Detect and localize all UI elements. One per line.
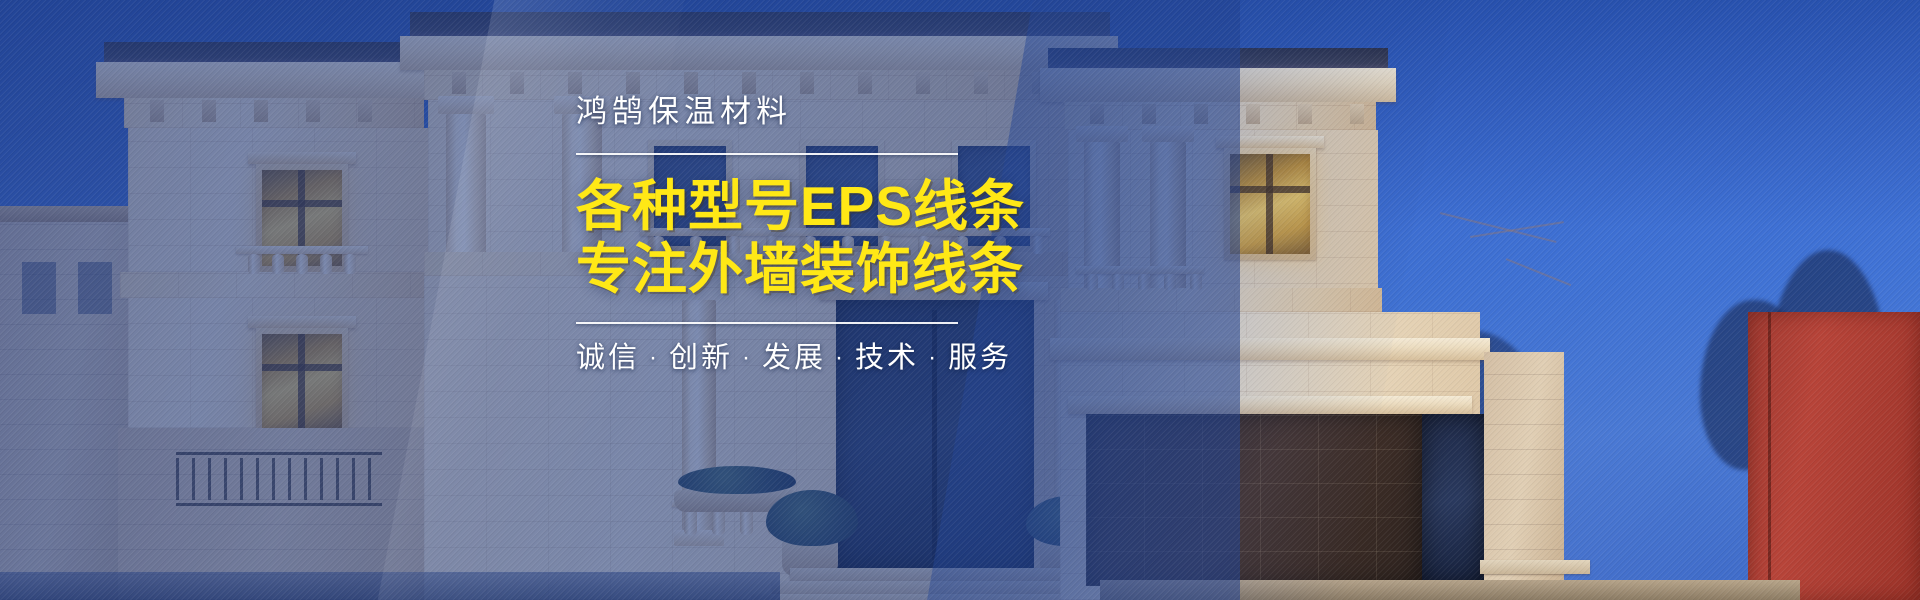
headline-line-1: 各种型号EPS线条	[576, 175, 1336, 238]
headline-line-2: 专注外墙装饰线条	[576, 238, 1336, 301]
tagline-item-5: 服务	[948, 342, 1012, 374]
tagline-item-2: 创新	[669, 342, 733, 374]
red-panel	[1748, 312, 1920, 600]
brand-name: 鸿鹄保温材料	[576, 96, 1336, 127]
side-steps	[1480, 560, 1590, 574]
tagline-separator-4: ·	[928, 344, 939, 371]
divider-top	[576, 153, 958, 155]
tagline-separator-2: ·	[742, 344, 753, 371]
banner-copy-block: 鸿鹄保温材料 各种型号EPS线条 专注外墙装饰线条 诚信·创新·发展·技术·服务	[576, 96, 1336, 373]
tagline-separator-3: ·	[835, 344, 846, 371]
tagline-item-3: 发展	[762, 342, 826, 374]
tagline-separator-1: ·	[649, 344, 660, 371]
hero-banner: 鸿鹄保温材料 各种型号EPS线条 专注外墙装饰线条 诚信·创新·发展·技术·服务	[0, 0, 1920, 600]
divider-bottom	[576, 322, 958, 324]
garage-side-opening	[1422, 414, 1484, 586]
tagline: 诚信·创新·发展·技术·服务	[576, 344, 1336, 373]
tagline-item-4: 技术	[855, 342, 919, 374]
red-panel-seam	[1768, 312, 1771, 600]
tagline-item-1: 诚信	[576, 342, 640, 374]
